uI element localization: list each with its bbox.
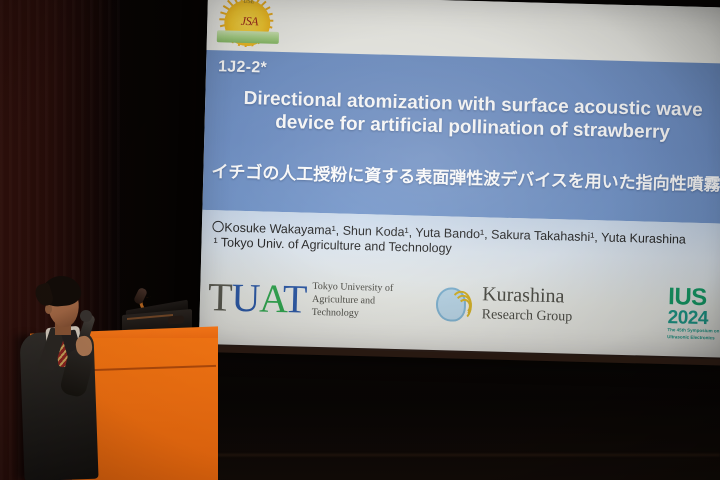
- stage-floor-edge: [200, 454, 720, 456]
- auditorium-scene: JSA USE 1J2-2* Directional atomization w…: [0, 0, 720, 480]
- kurashina-wordmark: Kurashina Research Group: [481, 283, 573, 325]
- head-waves-icon: [433, 284, 476, 325]
- kurashina-line-1: Kurashina: [482, 283, 573, 308]
- presenter: [8, 276, 118, 480]
- microphone-base: [168, 315, 184, 324]
- sun-ribbon-icon: [217, 30, 279, 44]
- slide-title-band: 1J2-2* Directional atomization with surf…: [202, 50, 720, 224]
- kurashina-logo: Kurashina Research Group: [433, 282, 614, 337]
- slide-logo-row: TUAT Tokyo University of Agriculture and…: [199, 272, 720, 348]
- society-logo-core-text: JSA: [231, 14, 267, 30]
- jsap-sun-logo: JSA USE: [217, 0, 280, 51]
- tuat-fullname-line-3: Technology: [312, 306, 393, 321]
- slide-body-band: 〇Kosuke Wakayama¹, Shun Koda¹, Yuta Band…: [199, 210, 720, 360]
- kurashina-line-2: Research Group: [481, 306, 572, 325]
- paper-id: 1J2-2*: [218, 58, 267, 77]
- projection-screen: JSA USE 1J2-2* Directional atomization w…: [199, 0, 720, 360]
- ius-year: 2024: [667, 308, 720, 329]
- ius-subtitle-line-2: Ultrasonic Electronics: [667, 334, 720, 343]
- slide-title-japanese: イチゴの人工授粉に資する表面弾性波デバイスを用いた指向性噴霧: [211, 162, 720, 197]
- tuat-wordmark: TUAT: [207, 274, 306, 323]
- ius-2024-logo: IUS 2024 The 45th Symposium on Ultrasoni…: [667, 286, 720, 340]
- tuat-fullname: Tokyo University of Agriculture and Tech…: [312, 281, 394, 321]
- slide-title-english: Directional atomization with surface aco…: [222, 86, 720, 145]
- slide-surface: JSA USE 1J2-2* Directional atomization w…: [199, 0, 720, 360]
- tuat-logo: TUAT Tokyo University of Agriculture and…: [207, 274, 408, 331]
